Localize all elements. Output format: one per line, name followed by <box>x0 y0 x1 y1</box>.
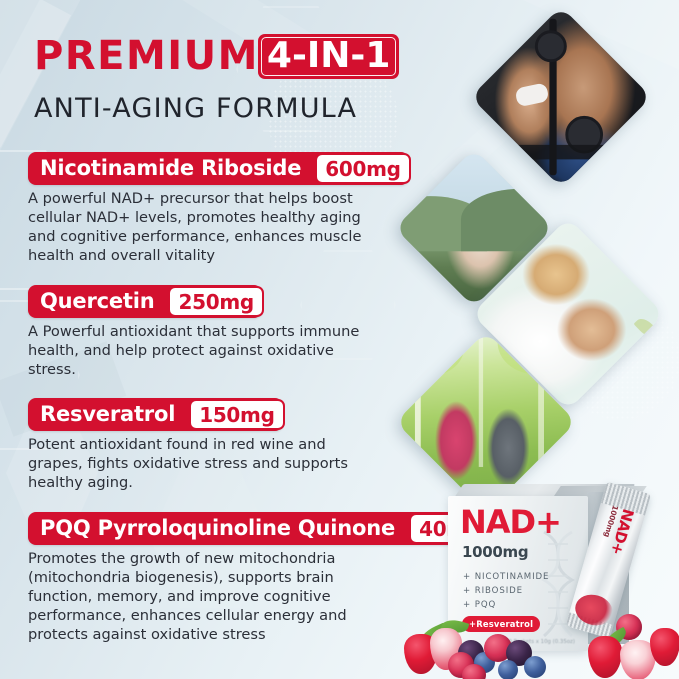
ingredient-name: Nicotinamide Riboside <box>40 158 301 179</box>
product-package: NAD+ 1000mg + NICOTINAMIDE + RIBOSIDE + … <box>434 484 679 654</box>
ingredient-badge: Quercetin 250mg <box>28 285 262 318</box>
title-row: PREMIUM 4-IN-1 <box>34 32 399 80</box>
ingredient-pqq: PQQ Pyrroloquinoline Quinone 40mg Promot… <box>28 512 489 645</box>
ingredient-name: Quercetin <box>40 291 154 312</box>
product-dose: 1000mg <box>462 543 528 561</box>
four-in-one-label: 4-IN-1 <box>267 38 391 74</box>
ingredient-description: A Powerful antioxidant that supports imm… <box>28 323 380 380</box>
ingredient-name: PQQ Pyrroloquinoline Quinone <box>40 518 395 539</box>
ingredient-description: Potent antioxidant found in red wine and… <box>28 436 380 493</box>
blueberry <box>524 656 546 678</box>
ingredient-resveratrol: Resveratrol 150mg Potent antioxidant fou… <box>28 398 380 493</box>
product-ingredient-list: + NICOTINAMIDE + RIBOSIDE + PQQ <box>463 571 549 613</box>
ingredient-dose-value: 150mg <box>199 405 274 425</box>
product-ingredient-item: + NICOTINAMIDE <box>463 571 549 585</box>
ingredient-name: Resveratrol <box>40 404 175 425</box>
infographic-canvas: PREMIUM 4-IN-1 ANTI-AGING FORMULA <box>0 0 679 679</box>
strawberry <box>588 636 622 678</box>
ingredient-badge: Nicotinamide Riboside 600mg <box>28 152 409 185</box>
photo-gym-weightlifting-image <box>470 6 651 187</box>
ingredient-nicotinamide-riboside: Nicotinamide Riboside 600mg A powerful N… <box>28 152 409 266</box>
product-resveratrol-badge: +Resveratrol <box>462 616 540 632</box>
product-ingredient-item: + PQQ <box>463 599 549 613</box>
ingredient-dose-value: 600mg <box>325 159 400 179</box>
ingredient-description: A powerful NAD+ precursor that helps boo… <box>28 190 380 266</box>
ingredient-dose-chip: 250mg <box>168 286 263 317</box>
photo-gym-weightlifting <box>470 6 651 187</box>
ingredient-quercetin: Quercetin 250mg A Powerful antioxidant t… <box>28 285 380 380</box>
ingredient-badge: PQQ Pyrroloquinoline Quinone 40mg <box>28 512 489 545</box>
ingredient-description: Promotes the growth of new mitochondria … <box>28 550 380 645</box>
product-brand: NAD+ <box>460 506 561 538</box>
page-subtitle: ANTI-AGING FORMULA <box>34 93 399 124</box>
four-in-one-badge: 4-IN-1 <box>258 34 400 79</box>
page-title: PREMIUM <box>34 36 259 76</box>
strawberry <box>650 628 679 666</box>
ingredient-dose-chip: 150mg <box>189 399 284 430</box>
product-ingredient-item: + RIBOSIDE <box>463 585 549 599</box>
ingredient-dose-chip: 600mg <box>315 153 410 184</box>
ingredient-badge: Resveratrol 150mg <box>28 398 283 431</box>
blueberry <box>498 660 518 679</box>
box-front-face: NAD+ 1000mg + NICOTINAMIDE + RIBOSIDE + … <box>448 496 588 651</box>
header: PREMIUM 4-IN-1 ANTI-AGING FORMULA <box>34 32 399 124</box>
ingredient-dose-value: 250mg <box>178 292 253 312</box>
raspberry <box>462 664 486 679</box>
